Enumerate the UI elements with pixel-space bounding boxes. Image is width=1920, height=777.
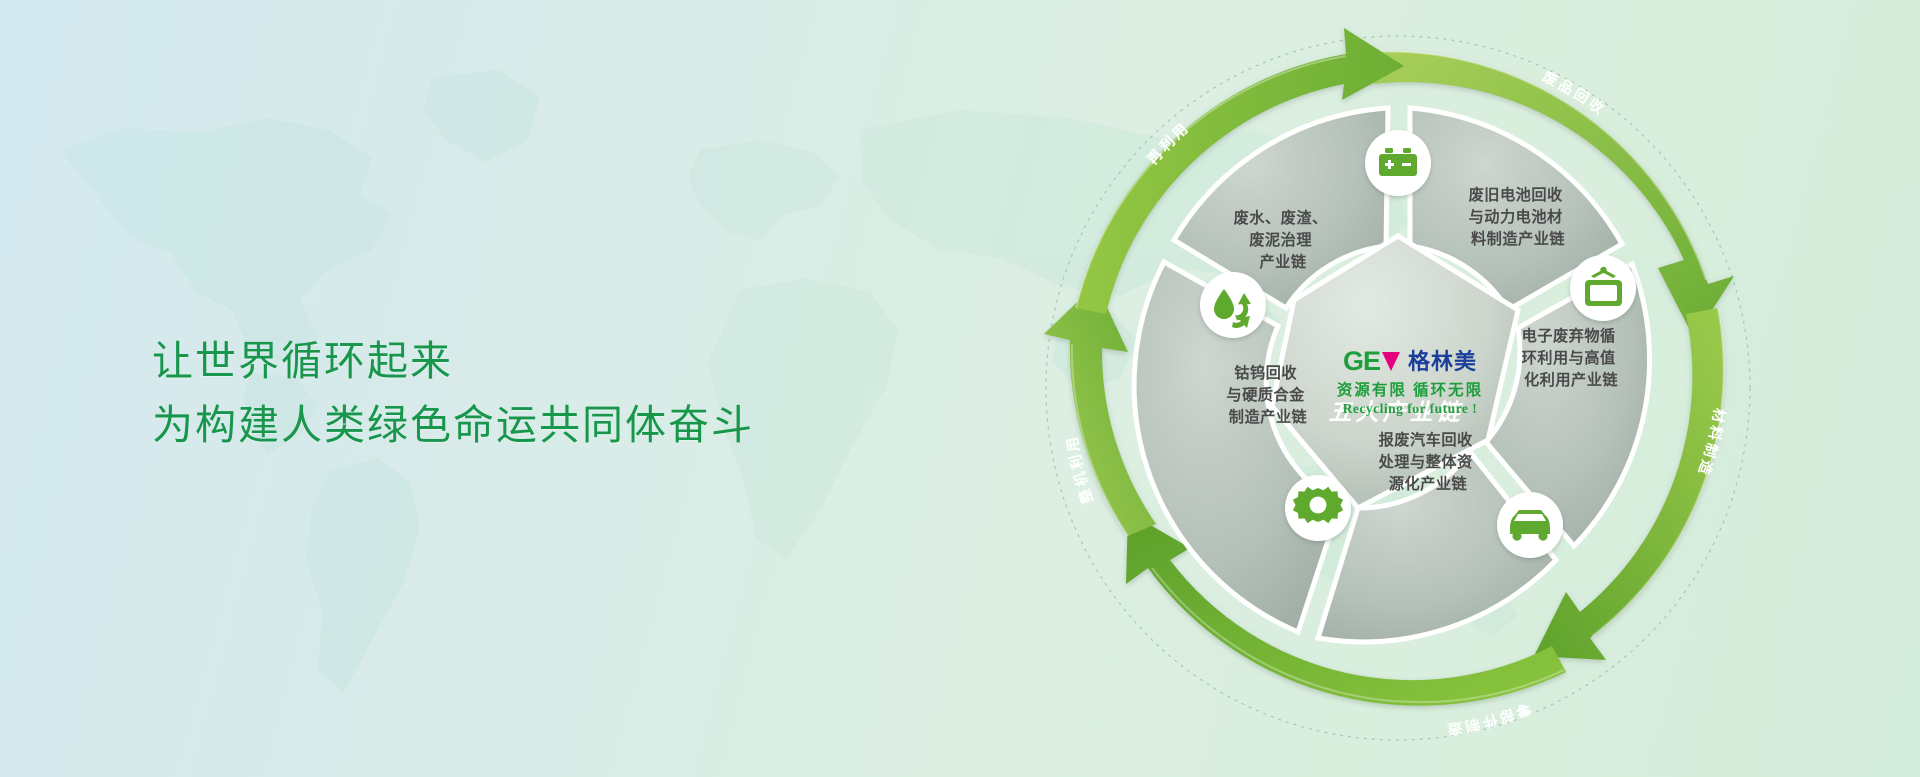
headline-line-2: 为构建人类绿色命运共同体奋斗 [152,394,754,458]
icon-bubble-television[interactable] [1570,255,1636,321]
segment-label-ewaste: 电子废弃物循 环利用与高值 化利用产业链 [1522,327,1621,389]
icon-bubble-recycle-drop[interactable] [1200,272,1266,338]
headline-line-1: 让世界循环起来 [152,330,754,394]
icon-bubble-battery[interactable] [1365,130,1431,196]
headline-block: 让世界循环起来 为构建人类绿色命运共同体奋斗 [152,330,754,457]
segment-label-vehicle: 报废汽车回收 处理与整体资 源化产业链 [1378,431,1478,493]
icon-bubble-gear[interactable] [1285,475,1351,541]
segment-label-cobalt-tungsten: 钴钨回收 与硬质合金 制造产业链 [1226,364,1309,426]
diagram-svg: 废品回收 材料制造 零部件制造 整机利用 再利用 五大产业链 [1018,8,1778,768]
center-tag-label: 五大产业链 [1329,399,1464,425]
segment-label-battery: 废旧电池回收 与动力电池材 料制造产业链 [1469,186,1568,248]
gear-icon [1293,487,1343,523]
ring-label-parts-manufacture: 零部件制造 [1444,699,1535,740]
icon-bubble-car[interactable] [1497,492,1563,558]
five-industry-chains-diagram: 废品回收 材料制造 零部件制造 整机利用 再利用 五大产业链 [1018,8,1778,768]
